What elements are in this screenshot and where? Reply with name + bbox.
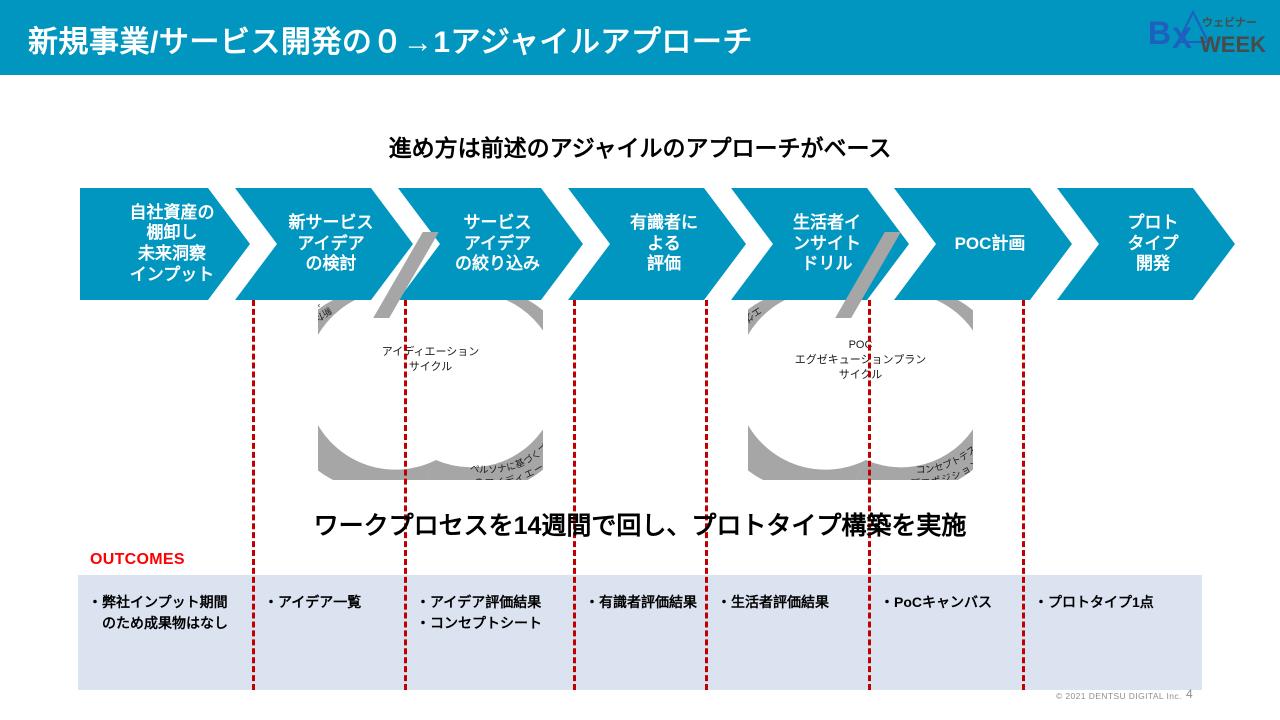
step-line: 棚卸し <box>130 223 215 244</box>
cycle-center-line: サイクル <box>318 360 543 375</box>
step-line: タイプ <box>1128 234 1179 255</box>
phase-divider-1 <box>252 300 255 690</box>
step-line: 生活者イ <box>793 213 861 234</box>
outcome-cell-5: ・生活者評価結果 <box>717 592 829 613</box>
poc-cycle-center-label: POC エグゼキューションプラン サイクル <box>748 338 973 383</box>
outcome-cell-1: ・弊社インプット期間 のため成果物はなし <box>88 592 228 634</box>
poc-cycle-arc: エグゼキューションプランの 上位概念の策定 コンセプトテスト ＆ プロポジション… <box>748 300 973 480</box>
outcome-cell-4: ・有識者評価結果 <box>585 592 697 613</box>
outcome-item: ・生活者評価結果 <box>717 592 829 613</box>
outcome-item: ・アイデア評価結果 <box>416 592 542 613</box>
step-line: 開発 <box>1128 254 1179 275</box>
process-step-1-label: 自社資産の 棚卸し 未来洞察 インプット <box>116 203 215 286</box>
step-line: プロト <box>1128 213 1179 234</box>
outcome-item: ・弊社インプット期間 <box>88 592 228 613</box>
outcome-cell-7: ・プロトタイプ1点 <box>1034 592 1154 613</box>
step-line: よる <box>630 234 698 255</box>
cycle-center-line: POC <box>748 338 973 353</box>
phase-divider-6 <box>1022 300 1025 690</box>
step-line: ドリル <box>793 254 861 275</box>
process-step-7[interactable]: プロト タイプ 開発 <box>1057 188 1235 300</box>
step-line: 有識者に <box>630 213 698 234</box>
step-line: 評価 <box>630 254 698 275</box>
svg-text:ウェビナー: ウェビナー <box>1202 15 1257 29</box>
logo-graphic: B X ウェビナー WEEK <box>1146 6 1266 64</box>
page-title: 新規事業/サービス開発の０→1アジャイルアプローチ <box>28 17 753 61</box>
phase-divider-5 <box>868 300 871 690</box>
footer-copyright: © 2021 DENTSU DIGITAL Inc. <box>1056 691 1182 701</box>
process-step-4[interactable]: 有識者に よる 評価 <box>568 188 746 300</box>
footer-page-number: 4 <box>1186 687 1193 701</box>
step-line: ンサイト <box>793 234 861 255</box>
process-step-2-label: 新サービス アイデア の検討 <box>275 213 374 275</box>
svg-text:WEEK: WEEK <box>1200 32 1266 57</box>
svg-text:B: B <box>1148 15 1171 51</box>
process-step-2[interactable]: 新サービス アイデア の検討 <box>235 188 413 300</box>
process-chevron-band: 自社資産の 棚卸し 未来洞察 インプット 新サービス アイデア の検討 サービス… <box>0 188 1280 300</box>
phase-divider-2 <box>404 300 407 690</box>
svg-text:X: X <box>1172 22 1192 55</box>
step-line: アイデア <box>455 234 540 255</box>
process-step-3-label: サービス アイデア の絞り込み <box>441 213 540 275</box>
process-step-7-label: プロト タイプ 開発 <box>1114 213 1179 275</box>
outcome-cell-6: ・PoCキャンバス <box>880 592 992 613</box>
outcome-item: ・アイデア一覧 <box>264 592 361 613</box>
process-step-4-label: 有識者に よる 評価 <box>616 213 698 275</box>
process-step-5-label: 生活者イ ンサイト ドリル <box>779 213 861 275</box>
step-line: アイデア <box>289 234 374 255</box>
step-line: の検討 <box>289 254 374 275</box>
step-line: POC計画 <box>955 234 1026 255</box>
outcomes-label: OUTCOMES <box>90 551 185 569</box>
process-step-1[interactable]: 自社資産の 棚卸し 未来洞察 インプット <box>80 188 250 300</box>
step-line: インプット <box>130 265 215 286</box>
ideation-arc-right-line-1: ペルソナに基づくプロポジション <box>469 397 543 476</box>
ideation-cycle-arc: 新たな価値提供における 初期仮説の再定義 ペルソナに基づくプロポジション のアイ… <box>318 300 543 480</box>
step-line: 自社資産の <box>130 203 215 224</box>
step-line: 新サービス <box>289 213 374 234</box>
outcome-item: ・コンセプトシート <box>416 613 542 634</box>
ideation-cycle-center-label: アイディエーション サイクル <box>318 345 543 375</box>
process-step-6-label: POC計画 <box>941 234 1026 255</box>
cycle-center-line: サイクル <box>748 368 973 383</box>
svg-text:ペルソナに基づくプロポジション: ペルソナに基づくプロポジション <box>469 397 543 476</box>
mid-caption: ワークプロセスを14週間で回し、プロトタイプ構築を実施 <box>0 506 1280 542</box>
outcome-item: ・プロトタイプ1点 <box>1034 592 1154 613</box>
step-line: 未来洞察 <box>130 244 215 265</box>
phase-divider-4 <box>705 300 708 690</box>
poc-cycle-diagram: エグゼキューションプランの 上位概念の策定 コンセプトテスト ＆ プロポジション… <box>748 300 973 480</box>
bx-week-logo: B X ウェビナー WEEK <box>1146 6 1266 64</box>
outcome-cell-3: ・アイデア評価結果 ・コンセプトシート <box>416 592 542 634</box>
outcome-item: ・PoCキャンバス <box>880 592 992 613</box>
slide-header-bar: 新規事業/サービス開発の０→1アジャイルアプローチ B X ウェビナー WEEK <box>0 0 1280 75</box>
outcome-item: ・有識者評価結果 <box>585 592 697 613</box>
ideation-cycle-diagram: 新たな価値提供における 初期仮説の再定義 ペルソナに基づくプロポジション のアイ… <box>318 300 543 480</box>
outcome-item: のため成果物はなし <box>88 613 228 634</box>
process-step-6[interactable]: POC計画 <box>894 188 1072 300</box>
slide: 新規事業/サービス開発の０→1アジャイルアプローチ B X ウェビナー WEEK… <box>0 0 1280 720</box>
cycle-center-line: エグゼキューションプラン <box>748 353 973 368</box>
step-line: サービス <box>455 213 540 234</box>
subtitle: 進め方は前述のアジャイルのアプローチがベース <box>0 129 1280 163</box>
step-line: の絞り込み <box>455 254 540 275</box>
cycle-center-line: アイディエーション <box>318 345 543 360</box>
outcome-cell-2: ・アイデア一覧 <box>264 592 361 613</box>
phase-divider-3 <box>573 300 576 690</box>
